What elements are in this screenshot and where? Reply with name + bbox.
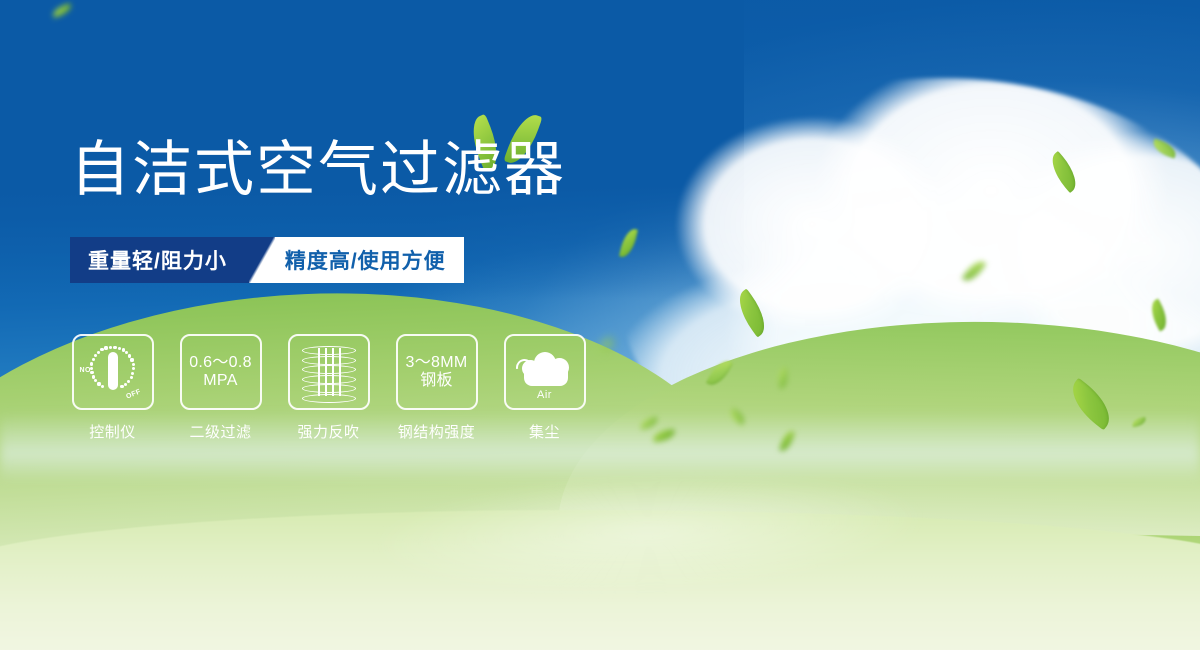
filter-core-bar xyxy=(318,348,320,396)
pressure-text-icon: 0.6～0.8 MPA xyxy=(189,354,252,391)
feature-label: 钢结构强度 xyxy=(398,421,476,442)
page-title: 自洁式空气过滤器 xyxy=(70,140,566,200)
cloud-base xyxy=(524,371,568,386)
filter-core-bar xyxy=(332,348,334,396)
feature-icon-box: 3～8MM 钢板 xyxy=(396,334,478,410)
filter-disc xyxy=(302,394,356,403)
steel-plate-text-icon: 3～8MM 钢板 xyxy=(406,354,468,391)
filter-core-bar xyxy=(325,348,327,396)
gauge-needle-icon xyxy=(108,352,118,390)
gauge-dial-dot xyxy=(132,363,135,366)
feature-item-dust-collection: Air 集尘 xyxy=(502,334,587,442)
feature-item-controller: NO OFF 控制仪 xyxy=(70,334,155,442)
gauge-dial-dot xyxy=(130,358,133,361)
gauge-label-no: NO xyxy=(80,367,91,374)
feature-item-two-stage-filter: 0.6～0.8 MPA 二级过滤 xyxy=(178,334,263,442)
feature-icon-box xyxy=(288,334,370,410)
steel-material-line: 钢板 xyxy=(406,372,468,390)
gauge-dial-dot xyxy=(100,348,103,351)
gauge-dial-dot xyxy=(127,380,130,383)
gauge-dial-dot xyxy=(97,382,100,385)
tagline-bar: 重量轻/阻力小 精度高/使用方便 xyxy=(70,237,464,283)
gauge-dial-dot xyxy=(118,347,121,350)
gauge-dial-dot xyxy=(132,367,135,370)
filter-disc xyxy=(302,375,356,384)
filter-stack-icon xyxy=(302,344,356,400)
feature-item-backflush: 强力反吹 xyxy=(286,334,371,442)
feature-icon-box: 0.6～0.8 MPA xyxy=(180,334,262,410)
gauge-icon: NO OFF xyxy=(82,343,144,401)
filter-disc xyxy=(302,346,356,355)
banner-content: 自洁式空气过滤器 重量轻/阻力小 精度高/使用方便 NO OFF 控制仪 xyxy=(0,0,1200,650)
filter-disc xyxy=(302,384,356,393)
feature-label: 集尘 xyxy=(529,421,560,442)
tagline-separator xyxy=(249,237,275,283)
feature-label: 控制仪 xyxy=(89,421,136,442)
filter-disc xyxy=(302,365,356,374)
gauge-dial-dot xyxy=(130,376,133,379)
gauge-dial-dot xyxy=(97,351,100,354)
gauge-dial-dot xyxy=(113,346,116,349)
gauge-dial-dot xyxy=(94,354,97,357)
gauge-dial-dot xyxy=(92,375,95,378)
feature-label: 二级过滤 xyxy=(189,421,251,442)
filter-core-bar xyxy=(339,348,341,396)
feature-icon-box: NO OFF xyxy=(72,334,154,410)
gauge-dial-dot xyxy=(128,354,131,357)
gauge-dial-dot xyxy=(124,383,127,386)
gauge-dial-dot xyxy=(90,362,93,365)
air-cloud-icon: Air xyxy=(514,346,576,398)
steel-thickness-line: 3～8MM xyxy=(406,354,468,372)
gauge-dial-dot xyxy=(104,346,107,349)
gauge-dial-dot xyxy=(109,346,112,349)
feature-icon-box: Air xyxy=(504,334,586,410)
pressure-value-line: 0.6～0.8 xyxy=(189,354,252,372)
pressure-unit-line: MPA xyxy=(189,372,252,390)
gauge-dial-dot xyxy=(101,385,104,388)
gauge-dial-dot xyxy=(120,385,123,388)
air-label: Air xyxy=(514,389,576,401)
product-banner: 自洁式空气过滤器 重量轻/阻力小 精度高/使用方便 NO OFF 控制仪 xyxy=(0,0,1200,650)
feature-label: 强力反吹 xyxy=(297,421,359,442)
feature-item-steel-strength: 3～8MM 钢板 钢结构强度 xyxy=(394,334,479,442)
gauge-dial-dot xyxy=(131,372,134,375)
gauge-dial-dot xyxy=(92,358,95,361)
tagline-left: 重量轻/阻力小 xyxy=(70,237,249,283)
tagline-right: 精度高/使用方便 xyxy=(275,237,464,283)
filter-disc xyxy=(302,356,356,365)
feature-list: NO OFF 控制仪 0.6～0.8 MPA 二级过滤 xyxy=(70,334,587,442)
